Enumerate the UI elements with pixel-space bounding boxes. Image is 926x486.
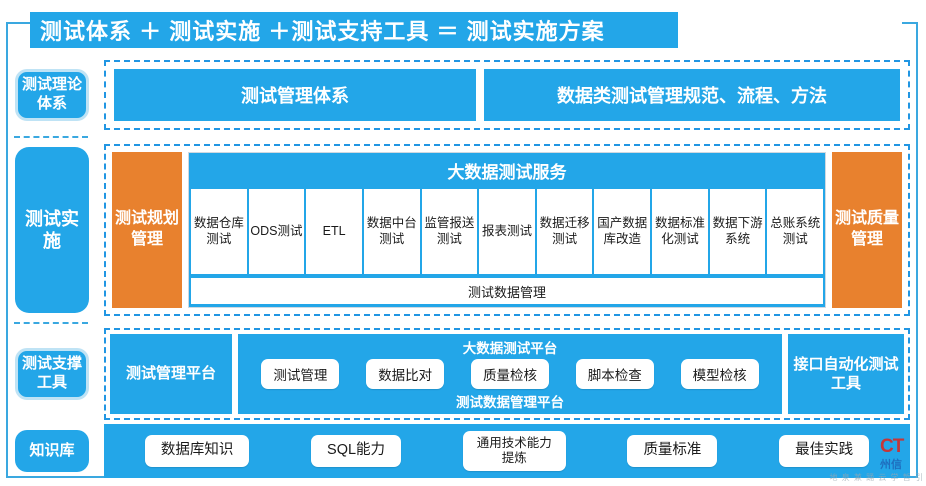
platform-tool-pill[interactable]: 数据比对 [366, 359, 444, 389]
platform-tool-pill[interactable]: 脚本检查 [576, 359, 654, 389]
service-cell[interactable]: ODS测试 [249, 189, 305, 274]
platform-tool-list: 测试管理数据比对质量检核脚本检查模型检核 [238, 359, 782, 389]
row-support-content: 测试管理平台 大数据测试平台 测试管理数据比对质量检核脚本检查模型检核 测试数据… [104, 328, 910, 420]
service-cell[interactable]: 数据标准化测试 [652, 189, 708, 274]
title-banner: 测试体系 ＋ 测试实施 ＋测试支持工具 ＝ 测试实施方案 [30, 12, 678, 48]
service-cell-list: 数据仓库测试ODS测试ETL数据中台测试监管报送测试报表测试数据迁移测试国产数据… [189, 187, 825, 276]
service-cell[interactable]: 数据仓库测试 [191, 189, 247, 274]
sidebar-item-execution[interactable]: 测试实施 [15, 147, 89, 313]
watermark-tagline: 地 泉 兼 踊 云 学 哲 引 [829, 472, 924, 483]
row-support: 测试支撑工具 测试管理平台 大数据测试平台 测试管理数据比对质量检核脚本检查模型… [8, 326, 916, 422]
service-panel-title: 大数据测试服务 [189, 153, 825, 187]
knowledge-item-pill[interactable]: 数据库知识 [145, 435, 250, 466]
row-knowledge-label-col: 知识库 [8, 424, 96, 478]
platform-tool-pill[interactable]: 测试管理 [261, 359, 339, 389]
knowledge-item-pill[interactable]: 质量标准 [627, 435, 717, 466]
page-title: 测试体系 ＋ 测试实施 ＋测试支持工具 ＝ 测试实施方案 [40, 14, 605, 46]
service-cell[interactable]: ETL [306, 189, 362, 274]
knowledge-item-pill[interactable]: 最佳实践 [779, 435, 869, 466]
sidebar-item-knowledge-base[interactable]: 知识库 [15, 430, 89, 472]
test-data-management[interactable]: 测试数据管理 [191, 278, 823, 304]
knowledge-item-pill[interactable]: SQL能力 [311, 435, 401, 466]
service-cell[interactable]: 报表测试 [479, 189, 535, 274]
divider-theory-execution [14, 136, 88, 138]
test-planning-management-pillar[interactable]: 测试规划管理 [112, 152, 182, 308]
row-knowledge-content: 数据库知识SQL能力通用技术能力提炼质量标准最佳实践 [104, 424, 910, 478]
row-support-label-col: 测试支撑工具 [8, 326, 96, 422]
platform-footer: 测试数据管理平台 [238, 391, 782, 411]
row-theory-label-col: 测试理论体系 [8, 56, 96, 134]
row-theory-content: 测试管理体系 数据类测试管理规范、流程、方法 [104, 60, 910, 130]
row-execution: 测试实施 测试规划管理 大数据测试服务 数据仓库测试ODS测试ETL数据中台测试… [8, 140, 916, 320]
test-quality-management-pillar[interactable]: 测试质量管理 [832, 152, 902, 308]
api-automation-tool-box[interactable]: 接口自动化测试工具 [788, 334, 904, 414]
service-cell[interactable]: 数据下游系统 [710, 189, 766, 274]
slide-canvas: 测试体系 ＋ 测试实施 ＋测试支持工具 ＝ 测试实施方案 测试理论体系 测试管理… [0, 0, 926, 486]
platform-title: 大数据测试平台 [238, 337, 782, 357]
service-cell[interactable]: 数据中台测试 [364, 189, 420, 274]
theory-box-data-spec[interactable]: 数据类测试管理规范、流程、方法 [484, 69, 900, 121]
row-execution-label-col: 测试实施 [8, 140, 96, 320]
service-cell[interactable]: 监管报送测试 [422, 189, 478, 274]
knowledge-item-pill[interactable]: 通用技术能力提炼 [463, 431, 566, 471]
service-cell[interactable]: 国产数据库改造 [594, 189, 650, 274]
service-cell[interactable]: 数据迁移测试 [537, 189, 593, 274]
row-execution-content: 测试规划管理 大数据测试服务 数据仓库测试ODS测试ETL数据中台测试监管报送测… [104, 144, 910, 316]
sidebar-item-support-tools[interactable]: 测试支撑工具 [15, 348, 89, 400]
sidebar-item-theory[interactable]: 测试理论体系 [15, 69, 89, 121]
divider-execution-support [14, 322, 88, 324]
platform-tool-pill[interactable]: 质量检核 [471, 359, 549, 389]
big-data-test-platform-panel: 大数据测试平台 测试管理数据比对质量检核脚本检查模型检核 测试数据管理平台 [238, 334, 782, 414]
big-data-test-service-panel: 大数据测试服务 数据仓库测试ODS测试ETL数据中台测试监管报送测试报表测试数据… [188, 152, 826, 308]
platform-tool-pill[interactable]: 模型检核 [681, 359, 759, 389]
theory-box-management-system[interactable]: 测试管理体系 [114, 69, 476, 121]
service-cell[interactable]: 总账系统测试 [767, 189, 823, 274]
row-theory: 测试理论体系 测试管理体系 数据类测试管理规范、流程、方法 [8, 56, 916, 134]
row-knowledge: 知识库 数据库知识SQL能力通用技术能力提炼质量标准最佳实践 [8, 424, 916, 478]
service-footer-wrap: 测试数据管理 [189, 276, 825, 307]
test-management-platform-box[interactable]: 测试管理平台 [110, 334, 232, 414]
